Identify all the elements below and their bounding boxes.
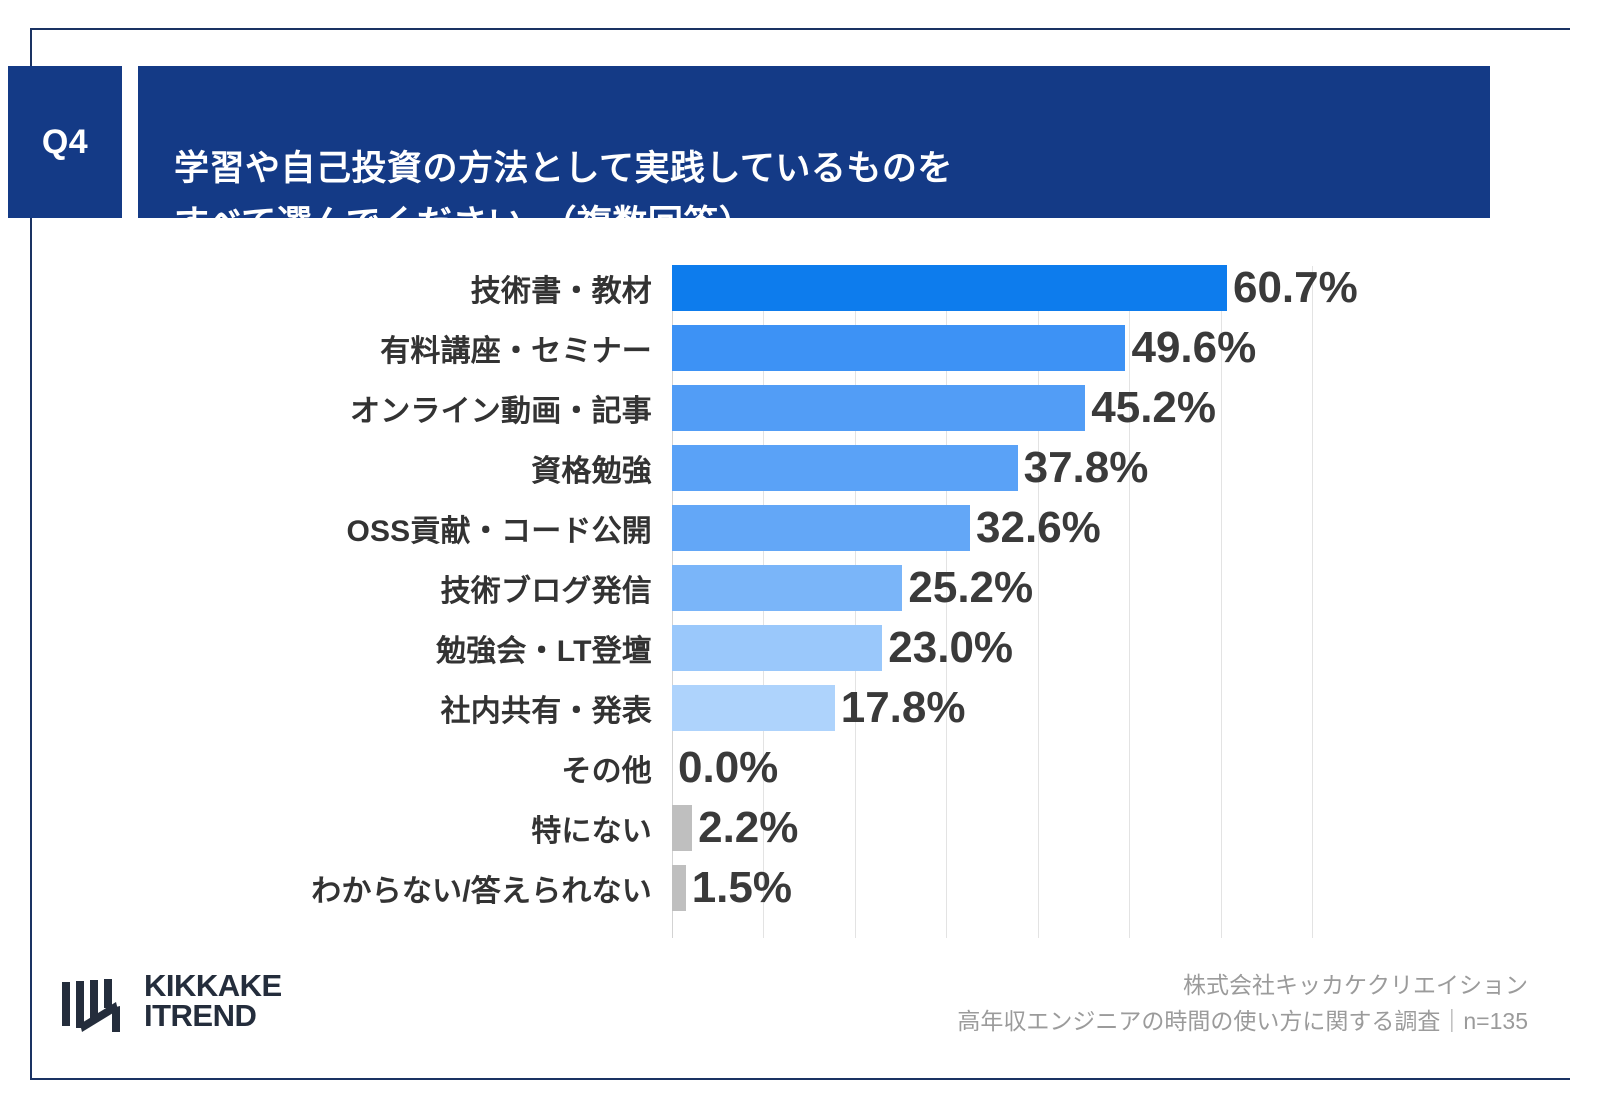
frame-top-rule [30,28,1570,30]
bar-group: 45.2% [672,378,1216,438]
category-label: その他 [0,746,652,790]
question-number-label: Q4 [42,123,88,162]
bar-value-label: 37.8% [1024,446,1149,490]
brand-logo-line2: ITREND [144,1001,282,1031]
bar[interactable] [672,865,686,911]
bar-value-label: 49.6% [1131,326,1256,370]
bar-group: 2.2% [672,798,798,858]
chart-row: わからない/答えられない1.5% [0,858,1600,918]
category-label: 社内共有・発表 [0,686,652,730]
chart-row: その他0.0% [0,738,1600,798]
category-label: オンライン動画・記事 [0,386,652,430]
chart-row: 技術書・教材60.7% [0,258,1600,318]
bar[interactable] [672,325,1125,371]
footer-survey: 高年収エンジニアの時間の使い方に関する調査｜n=135 [957,1004,1528,1040]
footer-company: 株式会社キッカケクリエイション [957,968,1528,1004]
bar[interactable] [672,385,1085,431]
slide-canvas: Q4 学習や自己投資の方法として実践しているものを すべて選んでください。（複数… [0,0,1600,1108]
bar-value-label: 1.5% [692,866,792,910]
question-title-text: 学習や自己投資の方法として実践しているものを すべて選んでください。（複数回答） [174,149,953,242]
question-number-badge: Q4 [8,66,122,218]
kikkake-logo-icon [60,968,134,1034]
chart-row: オンライン動画・記事45.2% [0,378,1600,438]
bar-group: 1.5% [672,858,792,918]
bar-value-label: 17.8% [841,686,966,730]
bar-group: 49.6% [672,318,1256,378]
bar[interactable] [672,685,835,731]
bar-group: 32.6% [672,498,1101,558]
bar-value-label: 32.6% [976,506,1101,550]
chart-row: 勉強会・LT登壇23.0% [0,618,1600,678]
category-label: 技術ブログ発信 [0,566,652,610]
category-label: 有料講座・セミナー [0,326,652,370]
bar-value-label: 23.0% [888,626,1013,670]
bar-group: 60.7% [672,258,1358,318]
category-label: 資格勉強 [0,446,652,490]
chart-row: OSS貢献・コード公開32.6% [0,498,1600,558]
question-title-banner: 学習や自己投資の方法として実践しているものを すべて選んでください。（複数回答） [138,66,1490,218]
category-label: 特にない [0,806,652,850]
bar-value-label: 25.2% [908,566,1033,610]
bar-value-label: 0.0% [678,746,778,790]
bar[interactable] [672,625,882,671]
brand-logo-line1: KIKKAKE [144,971,282,1001]
bar[interactable] [672,265,1227,311]
brand-logo: KIKKAKE ITREND [60,968,282,1034]
bar-group: 25.2% [672,558,1033,618]
bar-group: 37.8% [672,438,1148,498]
bar[interactable] [672,805,692,851]
bar-group: 23.0% [672,618,1013,678]
bar-value-label: 2.2% [698,806,798,850]
frame-bottom-rule [30,1078,1570,1080]
chart-rows: 技術書・教材60.7%有料講座・セミナー49.6%オンライン動画・記事45.2%… [0,258,1600,918]
chart-row: 特にない2.2% [0,798,1600,858]
category-label: 技術書・教材 [0,266,652,310]
bar-group: 17.8% [672,678,966,738]
chart-row: 資格勉強37.8% [0,438,1600,498]
bar[interactable] [672,505,970,551]
category-label: 勉強会・LT登壇 [0,626,652,670]
category-label: OSS貢献・コード公開 [0,506,652,550]
bar[interactable] [672,565,902,611]
bar[interactable] [672,445,1018,491]
brand-logo-text: KIKKAKE ITREND [144,971,282,1032]
chart-row: 社内共有・発表17.8% [0,678,1600,738]
bar-value-label: 45.2% [1091,386,1216,430]
chart-row: 有料講座・セミナー49.6% [0,318,1600,378]
footer-source-note: 株式会社キッカケクリエイション 高年収エンジニアの時間の使い方に関する調査｜n=… [957,968,1528,1039]
chart-row: 技術ブログ発信25.2% [0,558,1600,618]
bar-group: 0.0% [672,738,778,798]
category-label: わからない/答えられない [0,866,652,910]
bar-value-label: 60.7% [1233,266,1358,310]
bar-chart: 技術書・教材60.7%有料講座・セミナー49.6%オンライン動画・記事45.2%… [0,258,1600,948]
